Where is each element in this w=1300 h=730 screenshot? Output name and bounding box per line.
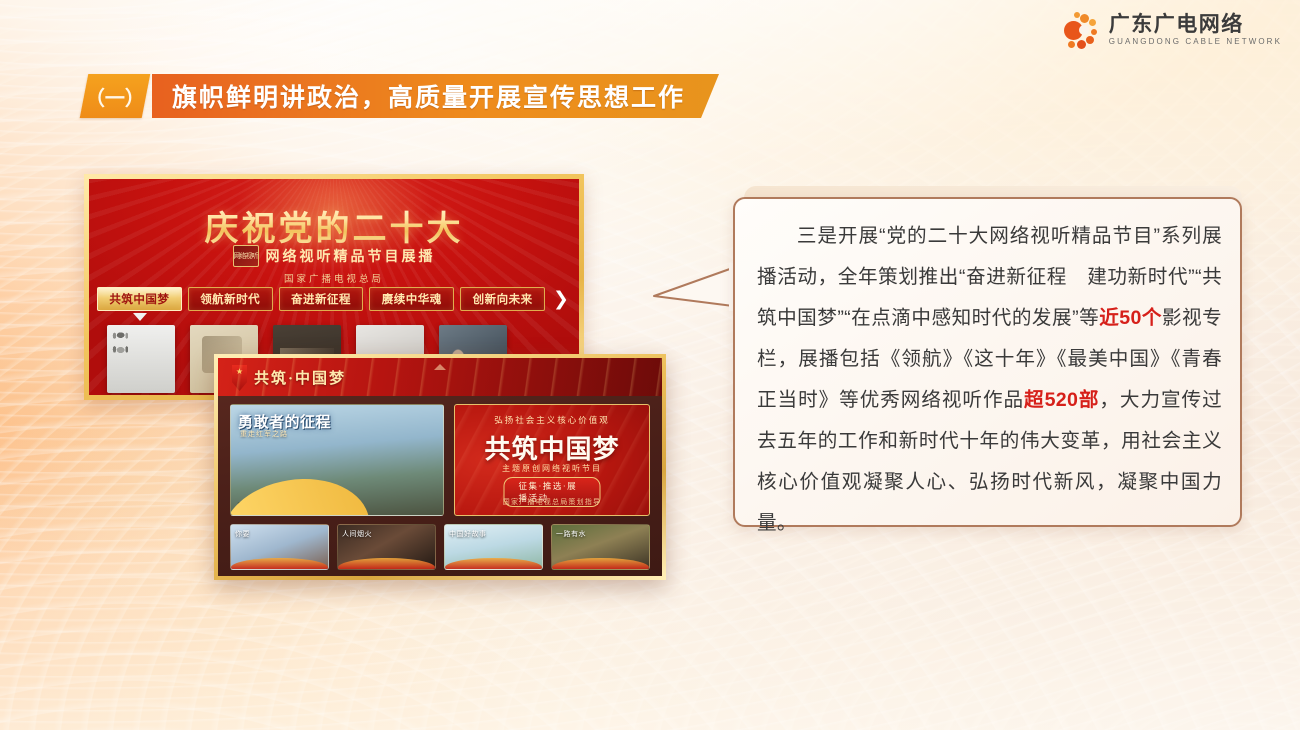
- video-card-label: 你要: [235, 529, 250, 539]
- video-card[interactable]: 中国好故事: [444, 524, 543, 570]
- video-card-label: 一路有水: [556, 529, 586, 539]
- nav-tab-1[interactable]: 领航新时代: [188, 287, 273, 311]
- thumbnail-item[interactable]: [107, 325, 175, 393]
- logo-text-cn: 广东广电网络: [1109, 14, 1282, 35]
- video-card-label: 中国好故事: [449, 529, 487, 539]
- section-index-label: （一）: [85, 82, 145, 111]
- feature-left-card[interactable]: 勇敢者的征程 重走红军之路: [230, 404, 444, 516]
- section-title-text: 旗帜鲜明讲政治，高质量开展宣传思想工作: [172, 78, 685, 114]
- back-panel-nav: 共筑中国梦 领航新时代 奋进新征程 赓续中华魂 创新向未来 ❯: [97, 287, 571, 311]
- nav-next-arrow-icon[interactable]: ❯: [551, 290, 571, 309]
- front-panel-hero-bar: ★ 共筑·中国梦: [218, 358, 662, 396]
- nav-tab-0[interactable]: 共筑中国梦: [97, 287, 182, 311]
- poster-headline: 共筑中国梦: [455, 429, 649, 466]
- section-title-banner: 旗帜鲜明讲政治，高质量开展宣传思想工作: [152, 74, 719, 118]
- section-index-tab: （一）: [80, 74, 151, 118]
- nav-tab-3[interactable]: 赓续中华魂: [369, 287, 454, 311]
- back-panel-subtitle-row: 网络视听 网络视听精品节目展播: [89, 245, 579, 267]
- front-panel-main: 勇敢者的征程 重走红军之路 弘扬社会主义核心价值观 共筑中国梦 主题原创网络视听…: [230, 404, 650, 516]
- highlight-over-520: 超520部: [1024, 389, 1099, 411]
- slide-canvas: 广东广电网络 GUANGDONG CABLE NETWORK （一） 旗帜鲜明讲…: [0, 0, 1300, 730]
- brand-logo: 广东广电网络 GUANGDONG CABLE NETWORK: [1060, 10, 1282, 50]
- nav-active-caret-icon: [133, 313, 147, 321]
- video-card[interactable]: 你要: [230, 524, 329, 570]
- video-card[interactable]: 人间烟火: [337, 524, 436, 570]
- video-card-label: 人间烟火: [342, 529, 372, 539]
- guangdong-cable-g-icon: [1060, 10, 1100, 50]
- poster-line-1: 弘扬社会主义核心价值观: [455, 414, 649, 426]
- logo-text-en: GUANGDONG CABLE NETWORK: [1109, 38, 1282, 46]
- hero-chevron-icon: [434, 364, 446, 370]
- video-card[interactable]: 一路有水: [551, 524, 650, 570]
- callout-paragraph: 三是开展“党的二十大网络视听精品节目”系列展播活动，全年策划推出“奋进新征程 建…: [757, 216, 1222, 544]
- party-flag-icon: ★: [232, 365, 247, 391]
- highlight-near-50: 近50个: [1099, 307, 1162, 329]
- nav-tab-4[interactable]: 创新向未来: [460, 287, 545, 311]
- feature-right-poster[interactable]: 弘扬社会主义核心价值观 共筑中国梦 主题原创网络视听节目 征集·推选·展播活动 …: [454, 404, 650, 516]
- poster-line-5: 国家广播电视总局策划指导: [455, 497, 649, 507]
- back-panel-title: 庆祝党的二十大: [89, 201, 579, 250]
- nav-tab-2[interactable]: 奋进新征程: [279, 287, 364, 311]
- seal-stamp-icon: 网络视听: [233, 245, 259, 267]
- callout-box: 三是开展“党的二十大网络视听精品节目”系列展播活动，全年策划推出“奋进新征程 建…: [733, 197, 1242, 527]
- front-panel-hero-title: 共筑·中国梦: [254, 367, 346, 388]
- callout-pointer-icon: [651, 263, 743, 315]
- section-title-bar: （一） 旗帜鲜明讲政治，高质量开展宣传思想工作: [84, 74, 719, 118]
- feature-left-subtitle: 重走红军之路: [240, 429, 288, 439]
- back-panel-subtitle: 网络视听精品节目展播: [266, 246, 436, 266]
- back-panel-org: 国家广播电视总局: [89, 271, 579, 285]
- poster-line-3: 主题原创网络视听节目: [455, 463, 649, 474]
- screenshot-front-panel: ★ 共筑·中国梦 勇敢者的征程 重走红军之路 弘扬社会主义核心价值观 共筑中国梦…: [214, 354, 666, 580]
- front-panel-card-row: 你要 人间烟火 中国好故事 一路有水: [230, 524, 650, 570]
